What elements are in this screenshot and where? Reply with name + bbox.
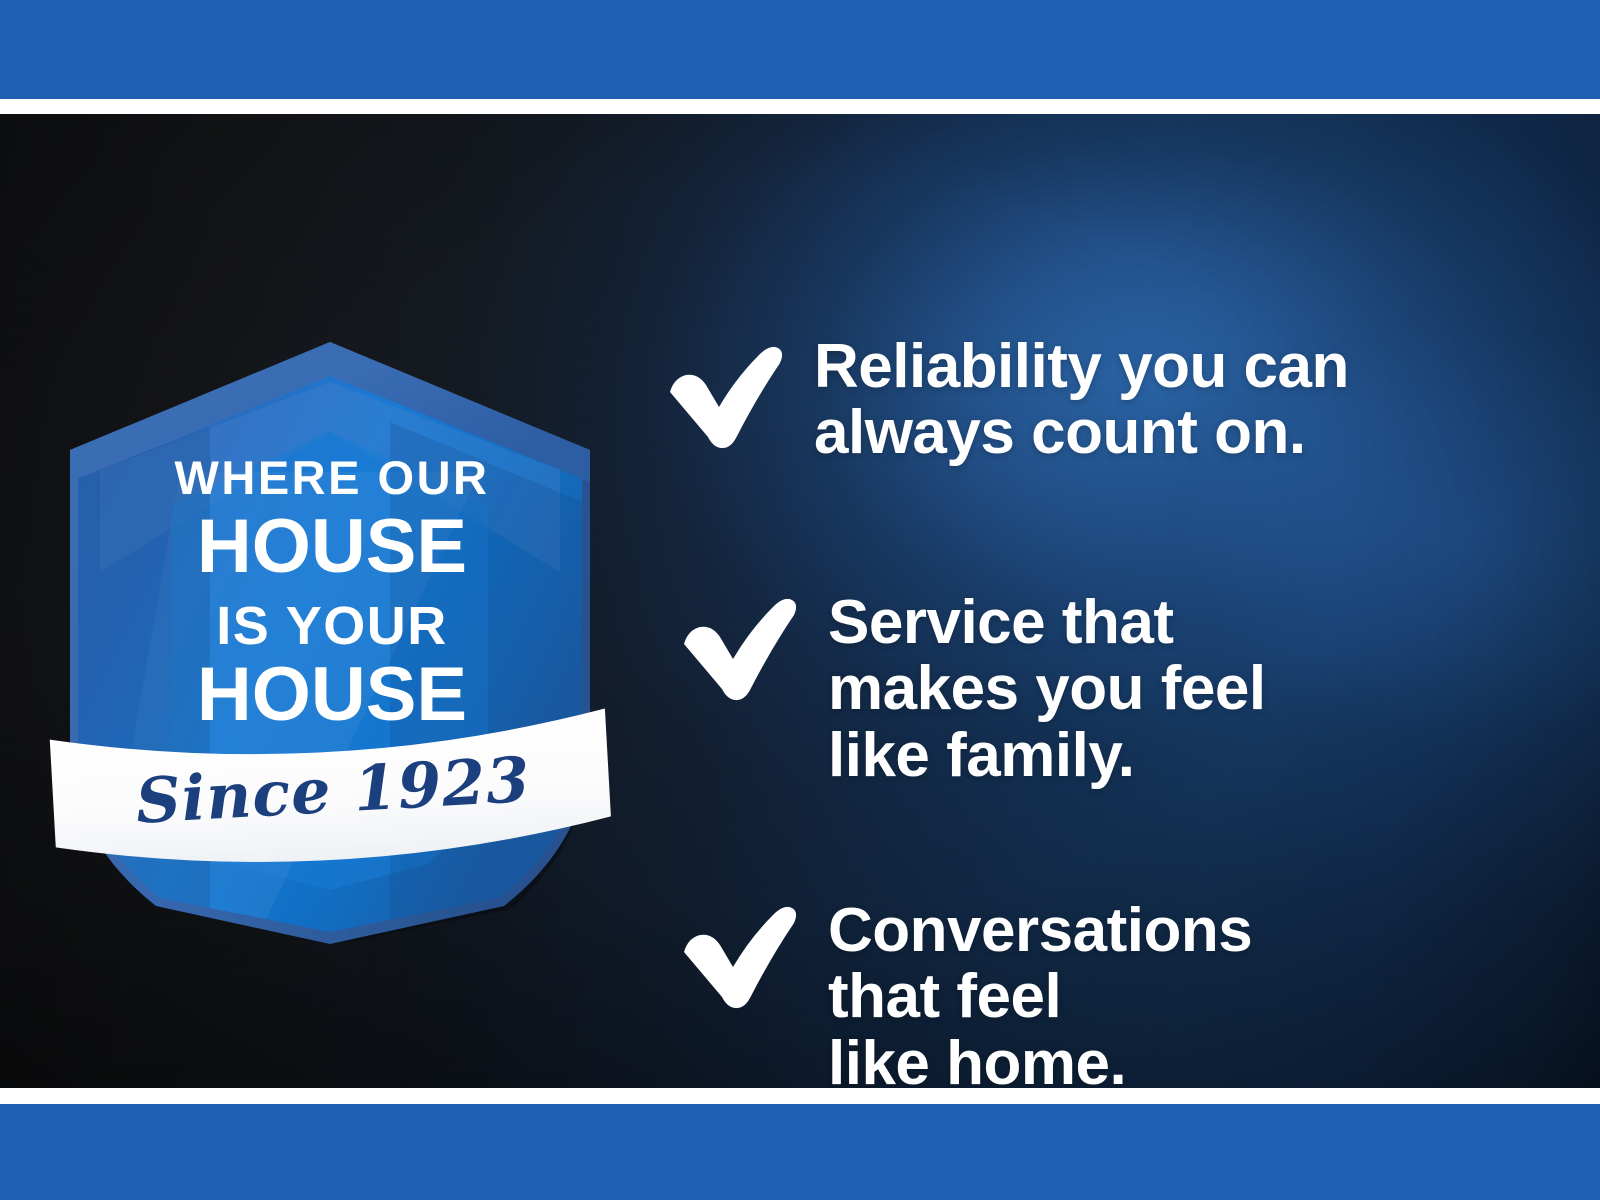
logo-line-2: HOUSE	[197, 504, 467, 589]
checkmark-icon	[678, 586, 802, 704]
top-brand-bar	[0, 0, 1600, 99]
logo-line-3: IS YOUR	[216, 596, 448, 656]
benefit-text-1: Reliability you can always count on.	[814, 328, 1349, 467]
benefit-item-3: Conversations that feel like home.	[678, 888, 1252, 1088]
benefit-item-1: Reliability you can always count on.	[664, 328, 1349, 467]
benefit-text-2: Service that makes you feel like family.	[828, 580, 1266, 789]
main-stage: WHERE OUR HOUSE IS YOUR HOUSE Since 1923	[0, 114, 1600, 1088]
company-shield-logo: WHERE OUR HOUSE IS YOUR HOUSE Since 1923	[60, 272, 600, 932]
logo-line-4: HOUSE	[197, 652, 467, 737]
checkmark-icon	[664, 334, 788, 452]
benefit-text-3: Conversations that feel like home.	[828, 888, 1252, 1088]
benefits-list: Reliability you can always count on. Ser…	[664, 228, 1544, 1088]
bottom-brand-bar	[0, 1104, 1600, 1200]
checkmark-icon	[678, 894, 802, 1012]
promo-graphic: WHERE OUR HOUSE IS YOUR HOUSE Since 1923	[0, 0, 1600, 1200]
benefit-item-2: Service that makes you feel like family.	[678, 580, 1266, 789]
logo-line-1: WHERE OUR	[175, 451, 490, 504]
